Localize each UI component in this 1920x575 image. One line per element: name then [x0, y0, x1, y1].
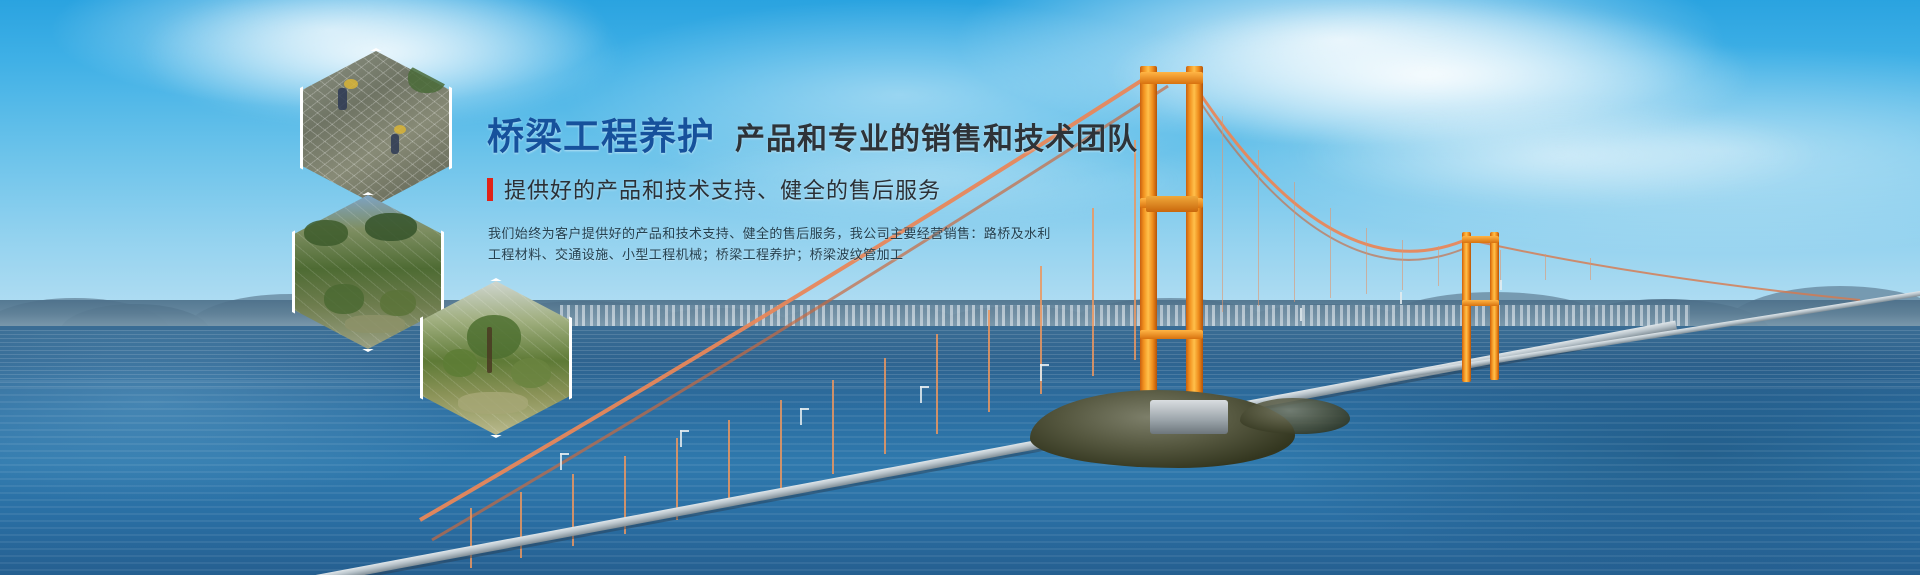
bridge-pier-base: [1150, 400, 1228, 434]
bridge-tower-far: [1462, 232, 1471, 382]
suspension-bridge: [0, 0, 1920, 575]
banner-text-block: 桥梁工程养护 产品和专业的销售和技术团队 提供好的产品和技术支持、健全的售后服务…: [487, 118, 1207, 266]
description-line-1: 我们始终为客户提供好的产品和技术支持、健全的售后服务，我公司主要经营销售：路桥及…: [488, 224, 1207, 245]
hero-banner: 桥梁工程养护 产品和专业的销售和技术团队 提供好的产品和技术支持、健全的售后服务…: [0, 0, 1920, 575]
tower-crossbeam-far: [1462, 300, 1499, 306]
bridge-cables: [0, 0, 1920, 575]
bridge-tower-far-right-leg: [1490, 232, 1499, 380]
description-paragraph: 我们始终为客户提供好的产品和技术支持、健全的售后服务，我公司主要经营销售：路桥及…: [488, 224, 1207, 266]
photo-rockfall-netting-workers[interactable]: [300, 48, 452, 208]
shoreline-rock: [1240, 398, 1350, 434]
description-line-2: 工程材料、交通设施、小型工程机械；桥梁工程养护；桥梁波纹管加工: [488, 245, 1207, 266]
tower-crossbeam: [1140, 330, 1203, 339]
headline: 桥梁工程养护 产品和专业的销售和技术团队: [487, 118, 1207, 155]
tower-crossbeam: [1140, 72, 1203, 84]
subheading-text: 提供好的产品和技术支持、健全的售后服务: [504, 173, 941, 205]
headline-secondary: 产品和专业的销售和技术团队: [735, 125, 1138, 155]
headline-primary: 桥梁工程养护: [487, 118, 715, 155]
subheading: 提供好的产品和技术支持、健全的售后服务: [487, 173, 1207, 205]
accent-bar-icon: [487, 178, 493, 201]
tower-crossbeam-far: [1462, 236, 1499, 243]
